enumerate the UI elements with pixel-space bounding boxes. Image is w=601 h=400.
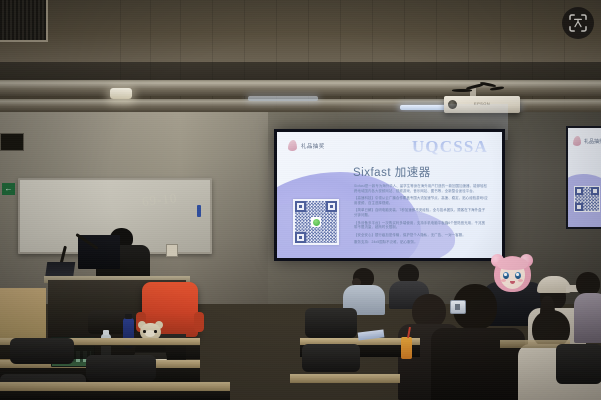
recessed-downlight: [110, 88, 132, 99]
slide-logo: 礼品抽奖: [288, 140, 325, 151]
whiteboard-marker: [197, 205, 201, 217]
secondary-qr-code: [574, 186, 600, 212]
slide-paragraph: 【安全安心】银行级加密传输，保护您个人隐私，无广告、一对一客服。: [354, 233, 488, 238]
slide-title: Sixfast 加速器: [353, 164, 431, 180]
ceiling-vent-grille: [0, 0, 48, 42]
sticker-eye-left: [503, 272, 509, 279]
sticker-blush-right: [518, 279, 523, 282]
classroom-chair: [302, 344, 360, 372]
slide-paragraph: 【高速科技】引领从云广播合作覆盖专国大流加速节点，高速、稳定、贴心经验游戏/应用…: [354, 196, 488, 206]
fluorescent-tube-left: [248, 96, 318, 101]
classroom-chair: [10, 338, 74, 364]
desk-panel-bottom-left: [0, 391, 230, 400]
exit-sign: ←: [2, 183, 15, 195]
slide-paragraph: 【多设备多平台】一次购买利多端使用，支持手机电脑平板癱6个登陆悠光用，千兆宽带不…: [354, 221, 488, 231]
projector-cables: [452, 82, 508, 96]
qr-pattern: [295, 201, 337, 243]
wall-outlet: [166, 244, 178, 257]
qr-finder-top-right: [326, 201, 337, 212]
slide-paragraph: Sixfast是一款专为海外华人、留学生等身在海外用户打造的一款回国加速器，能够…: [354, 184, 488, 194]
slide-body-text: Sixfast是一款专为海外华人、留学生等身在海外用户打造的一款回国加速器，能够…: [354, 184, 488, 247]
scan-frame-icon: [568, 13, 588, 33]
wall-speaker: [0, 133, 24, 151]
desk-surface-audience-front: [290, 374, 400, 383]
sticker-fringe: [497, 257, 528, 270]
projector-brand-label: EPSON: [474, 101, 490, 106]
classroom-chair: [305, 308, 357, 338]
slide-brand-wordmark: UQCSSA: [412, 137, 488, 157]
sticker-eye-right: [515, 272, 521, 279]
bear-eye-left: [143, 330, 146, 333]
slide-qr-code: [293, 199, 339, 245]
wechat-green-icon: [311, 217, 321, 227]
scan-text-button[interactable]: [562, 7, 594, 39]
secondary-petal-mark-icon: [573, 136, 581, 146]
screenshot-root: ← 69-10 EPSON 礼品抽奖 UQCSSA Sixfast 加速器 Si…: [0, 0, 601, 400]
projection-screen: 礼品抽奖 UQCSSA Sixfast 加速器 Sixfast是一款专为海外华人…: [274, 129, 505, 261]
hair-clip: [450, 300, 466, 314]
secondary-slide-content: 礼品抽奖: [568, 128, 601, 227]
juice-cup: [401, 337, 412, 359]
chair-armrest-right: [194, 312, 204, 332]
slide-paragraph: 【简单已解】自研电脑安装，7秒加速即不安经验，全与技术团队，顾客在下海外盒子分钟…: [354, 208, 488, 218]
secondary-display: 礼品抽奖: [566, 126, 601, 229]
slide-logo-text: 礼品抽奖: [301, 142, 325, 150]
classroom-chair: [86, 355, 156, 381]
slide-content: 礼品抽奖 UQCSSA Sixfast 加速器 Sixfast是一款专为海外华人…: [277, 132, 502, 258]
slide-paragraph: 服务支持：24x5国际不泛难，贴心服务。: [354, 240, 488, 245]
ceiling-projector: EPSON: [444, 96, 520, 113]
projector-lens: [448, 100, 457, 109]
ceiling-beam-upper: [0, 80, 601, 96]
secondary-logo-text: 礼品抽奖: [584, 138, 601, 145]
audience-torso: [431, 328, 525, 400]
petal-mark-icon: [288, 140, 297, 151]
sticker-blush-left: [501, 279, 506, 282]
qr-finder-top-left: [295, 201, 306, 212]
bear-eye-right: [154, 330, 157, 333]
ceiling-shadow-band: [0, 62, 601, 82]
qr-finder-bottom-left: [295, 232, 306, 243]
classroom-chair: [556, 344, 601, 384]
